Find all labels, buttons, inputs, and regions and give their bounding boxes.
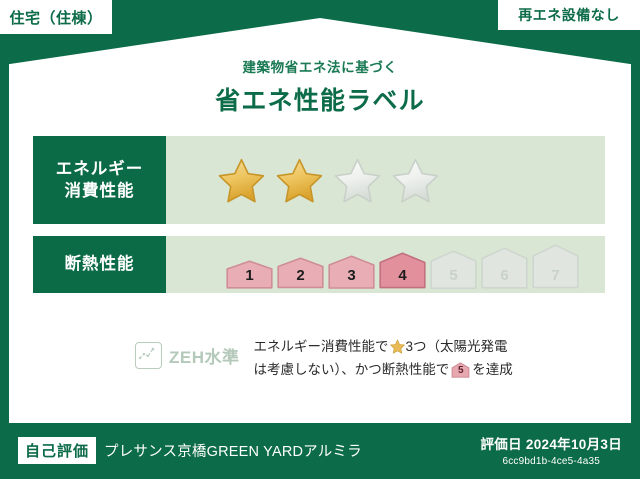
label-root: 住宅（住棟） 再エネ設備なし 建築物省エネ法に基づく 省エネ性能ラベル エネルギ… — [0, 0, 640, 479]
insulation-level-number: 5 — [430, 267, 477, 284]
trend-chart-icon — [135, 342, 162, 369]
zeh-label: ZEH水準 — [169, 343, 240, 368]
insulation-level-number: 2 — [277, 267, 324, 284]
insulation-level-2: 2 — [277, 257, 324, 289]
star-filled-icon — [217, 157, 266, 204]
tag-renewable-equipment: 再エネ設備なし — [498, 0, 640, 30]
footer: 自己評価 プレサンス京橋GREEN YARDアルミラ 評価日 2024年10月3… — [0, 423, 640, 479]
zeh-desc-part2: は考慮しない）、かつ断熱性能で — [254, 362, 450, 377]
insulation-level-number: 6 — [481, 267, 528, 284]
insulation-level-4: 4 — [379, 252, 426, 289]
evaluation-meta: 評価日 2024年10月3日 6cc9bd1b-4ce5-4a35 — [480, 433, 622, 467]
inline-house-level: 5 — [451, 362, 470, 378]
insulation-level-number: 3 — [328, 267, 375, 284]
insulation-level-6: 6 — [481, 247, 528, 289]
self-evaluation-block: 自己評価 プレサンス京橋GREEN YARDアルミラ — [18, 437, 362, 464]
star-empty-icon — [333, 157, 382, 204]
insulation-level-scale: 1234567 — [166, 236, 579, 293]
energy-performance-label: エネルギー 消費性能 — [33, 136, 166, 224]
insulation-rating-body: 1234567 — [166, 236, 605, 293]
insulation-level-3: 3 — [328, 255, 375, 289]
energy-label-line2: 消費性能 — [65, 180, 135, 202]
insulation-level-number: 4 — [379, 267, 426, 284]
title-block: 建築物省エネ法に基づく 省エネ性能ラベル — [0, 56, 640, 117]
title-subtitle: 建築物省エネ法に基づく — [0, 56, 640, 76]
insulation-level-number: 1 — [226, 267, 273, 284]
energy-performance-row: エネルギー 消費性能 — [33, 136, 605, 224]
insulation-level-5: 5 — [430, 250, 477, 289]
inline-house-badge-icon: 5 — [451, 362, 470, 378]
evaluation-date: 評価日 2024年10月3日 — [480, 433, 622, 453]
insulation-level-number: 7 — [532, 267, 579, 284]
insulation-level-1: 1 — [226, 260, 273, 289]
zeh-desc-part1: エネルギー消費性能で — [254, 339, 389, 354]
insulation-performance-label: 断熱性能 — [33, 236, 166, 293]
page-title: 省エネ性能ラベル — [0, 81, 640, 117]
zeh-standard-row: ZEH水準 エネルギー消費性能で3つ（太陽光発電 は考慮しない）、かつ断熱性能で… — [33, 330, 605, 381]
star-empty-icon — [391, 157, 440, 204]
zeh-desc-part3: を達成 — [472, 362, 513, 377]
zeh-description: エネルギー消費性能で3つ（太陽光発電 は考慮しない）、かつ断熱性能で5を達成 — [240, 330, 513, 381]
inline-star-icon — [390, 338, 405, 353]
zeh-desc-star-count: 3つ（太陽光発電 — [406, 339, 508, 354]
insulation-performance-row: 断熱性能 1234567 — [33, 236, 605, 293]
tag-building-type: 住宅（住棟） — [0, 0, 112, 34]
property-name: プレサンス京橋GREEN YARDアルミラ — [104, 440, 362, 461]
evaluation-id: 6cc9bd1b-4ce5-4a35 — [480, 456, 622, 467]
star-filled-icon — [275, 157, 324, 204]
self-evaluation-badge: 自己評価 — [18, 437, 96, 464]
star-rating — [166, 157, 440, 204]
energy-label-line1: エネルギー — [56, 158, 144, 180]
zeh-badge: ZEH水準 — [33, 330, 240, 369]
insulation-level-7: 7 — [532, 244, 579, 289]
energy-rating-body — [166, 136, 605, 224]
